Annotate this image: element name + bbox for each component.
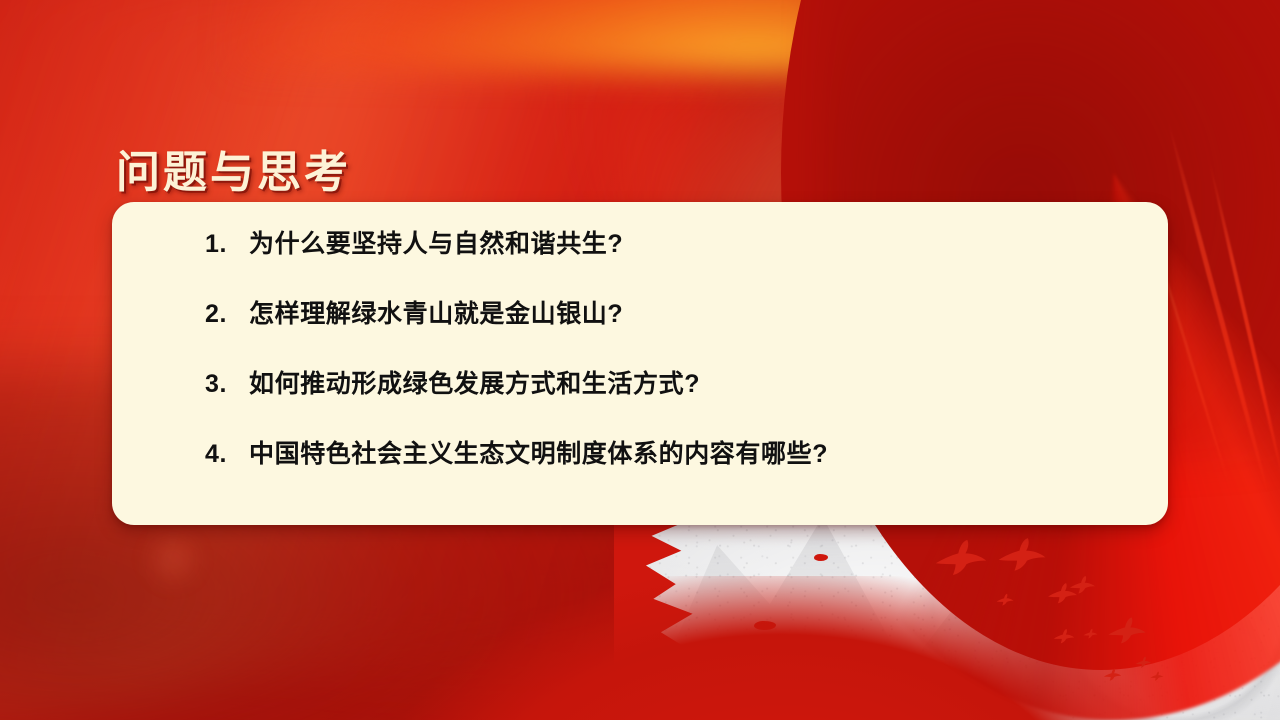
list-item: 2. 怎样理解绿水青山就是金山银山? [205,294,1138,364]
list-item: 3. 如何推动形成绿色发展方式和生活方式? [205,364,1138,434]
list-item-number: 2. [205,300,249,329]
list-item-number: 4. [205,440,249,469]
presentation-slide: 问题与思考 1. 为什么要坚持人与自然和谐共生? 2. 怎样理解绿水青山就是金山… [0,0,1280,720]
list-item-text: 为什么要坚持人与自然和谐共生? [249,224,1138,260]
list-item-number: 1. [205,230,249,259]
slide-title: 问题与思考 [116,136,351,200]
list-item: 1. 为什么要坚持人与自然和谐共生? [205,224,1138,294]
questions-card: 1. 为什么要坚持人与自然和谐共生? 2. 怎样理解绿水青山就是金山银山? 3.… [112,202,1168,525]
list-item-text: 中国特色社会主义生态文明制度体系的内容有哪些? [249,434,1138,470]
bokeh-dot [147,533,199,585]
list-item-text: 怎样理解绿水青山就是金山银山? [249,294,1138,330]
list-item-number: 3. [205,370,249,399]
questions-list: 1. 为什么要坚持人与自然和谐共生? 2. 怎样理解绿水青山就是金山银山? 3.… [205,224,1138,504]
list-item-text: 如何推动形成绿色发展方式和生活方式? [249,364,1138,400]
list-item: 4. 中国特色社会主义生态文明制度体系的内容有哪些? [205,434,1138,504]
